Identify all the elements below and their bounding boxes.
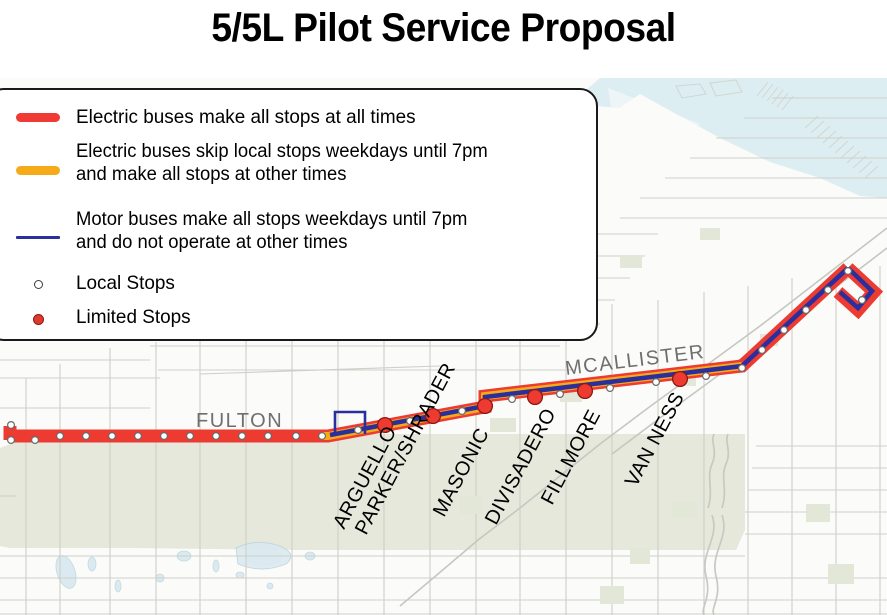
filled-circle-swatch	[16, 314, 60, 325]
slide-root: 5/5L Pilot Service Proposal	[0, 0, 887, 615]
street-label-fulton: FULTON	[196, 410, 283, 432]
thick-line-red-swatch	[16, 113, 60, 122]
legend-item-electric-all-stops: Electric buses make all stops at all tim…	[16, 106, 582, 129]
legend-label-local-stops: Local Stops	[76, 272, 175, 295]
legend-label-limited-stops: Limited Stops	[76, 306, 191, 329]
legend-item-limited-stops: Limited Stops	[16, 306, 582, 329]
thin-line-blue-swatch	[16, 236, 60, 239]
hollow-circle-swatch	[16, 280, 60, 289]
legend-label-electric-all-stops: Electric buses make all stops at all tim…	[76, 106, 416, 129]
thick-line-orange-swatch	[16, 166, 60, 175]
legend-item-electric-limited: Electric buses skip local stops weekdays…	[16, 140, 582, 186]
map-legend: Electric buses make all stops at all tim…	[0, 88, 598, 341]
legend-item-motor-bus: Motor buses make all stops weekdays unti…	[16, 208, 582, 254]
title-bar: 5/5L Pilot Service Proposal	[0, 0, 887, 78]
legend-label-motor-bus: Motor buses make all stops weekdays unti…	[76, 208, 479, 254]
page-title: 5/5L Pilot Service Proposal	[31, 6, 856, 51]
legend-label-electric-limited: Electric buses skip local stops weekdays…	[76, 140, 501, 186]
legend-item-local-stops: Local Stops	[16, 272, 582, 295]
